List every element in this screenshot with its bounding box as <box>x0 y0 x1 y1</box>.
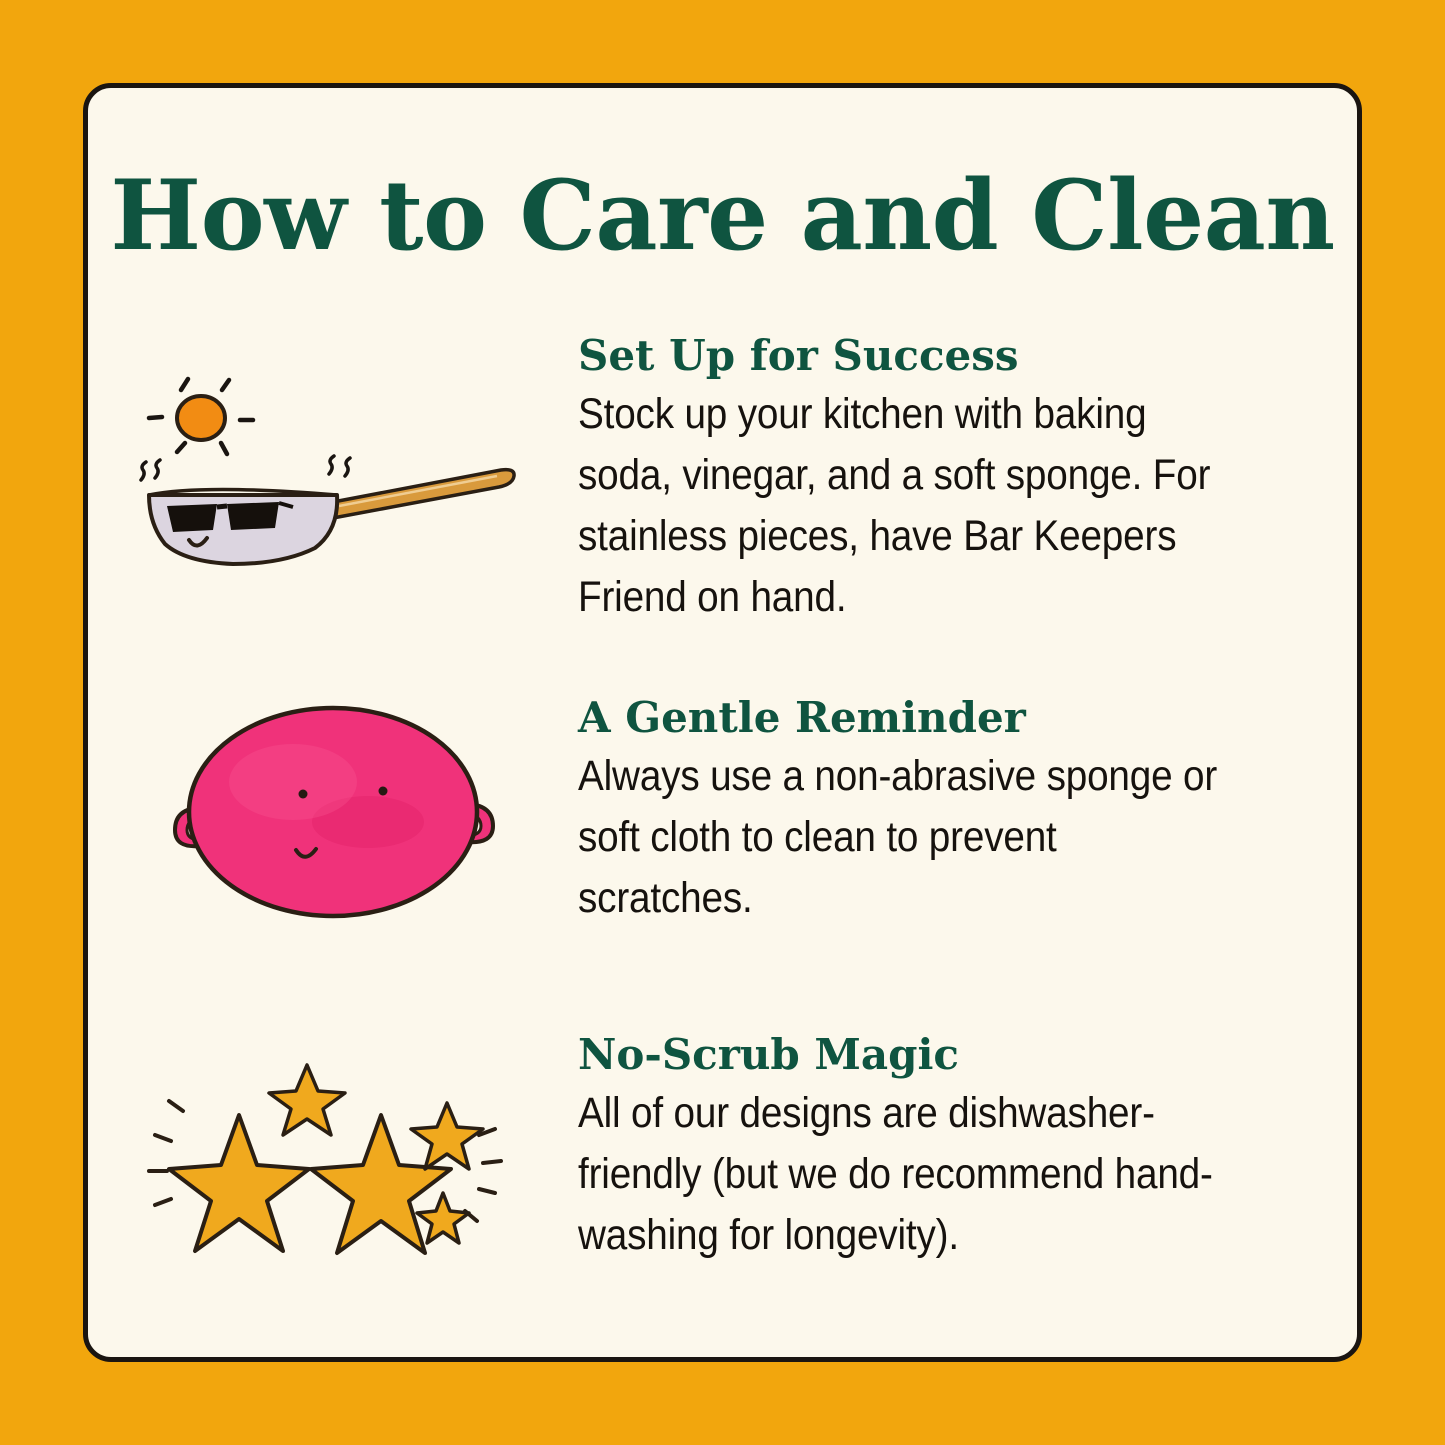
page-title: How to Care and Clean <box>88 168 1357 264</box>
text-block-3: No-Scrub Magic All of our designs are di… <box>578 1019 1357 1266</box>
care-and-clean-poster: How to Care and Clean <box>0 0 1445 1445</box>
illustration-frame-1 <box>88 334 578 602</box>
section-body-2: Always use a non-abrasive sponge or soft… <box>578 746 1226 929</box>
text-block-1: Set Up for Success Stock up your kitchen… <box>578 334 1357 628</box>
instruction-sections: Set Up for Success Stock up your kitchen… <box>88 334 1357 1319</box>
section-body-3: All of our designs are dishwasher-friend… <box>578 1083 1226 1266</box>
section-body-1: Stock up your kitchen with baking soda, … <box>578 384 1226 628</box>
section-heading-1: Set Up for Success <box>578 334 1317 378</box>
content-card: How to Care and Clean <box>83 83 1362 1362</box>
section-set-up-for-success: Set Up for Success Stock up your kitchen… <box>88 334 1357 664</box>
illustration-frame-3 <box>88 1019 578 1273</box>
pink-pot-with-smiling-face-icon <box>153 690 513 930</box>
section-no-scrub-magic: No-Scrub Magic All of our designs are di… <box>88 1019 1357 1319</box>
frying-pan-with-sunglasses-and-sun-icon <box>133 352 533 602</box>
section-heading-3: No-Scrub Magic <box>578 1033 1317 1077</box>
text-block-2: A Gentle Reminder Always use a non-abras… <box>578 684 1357 929</box>
section-a-gentle-reminder: A Gentle Reminder Always use a non-abras… <box>88 684 1357 999</box>
illustration-frame-2 <box>88 684 578 930</box>
gold-sparkling-stars-icon <box>133 1053 533 1273</box>
section-heading-2: A Gentle Reminder <box>578 696 1317 740</box>
